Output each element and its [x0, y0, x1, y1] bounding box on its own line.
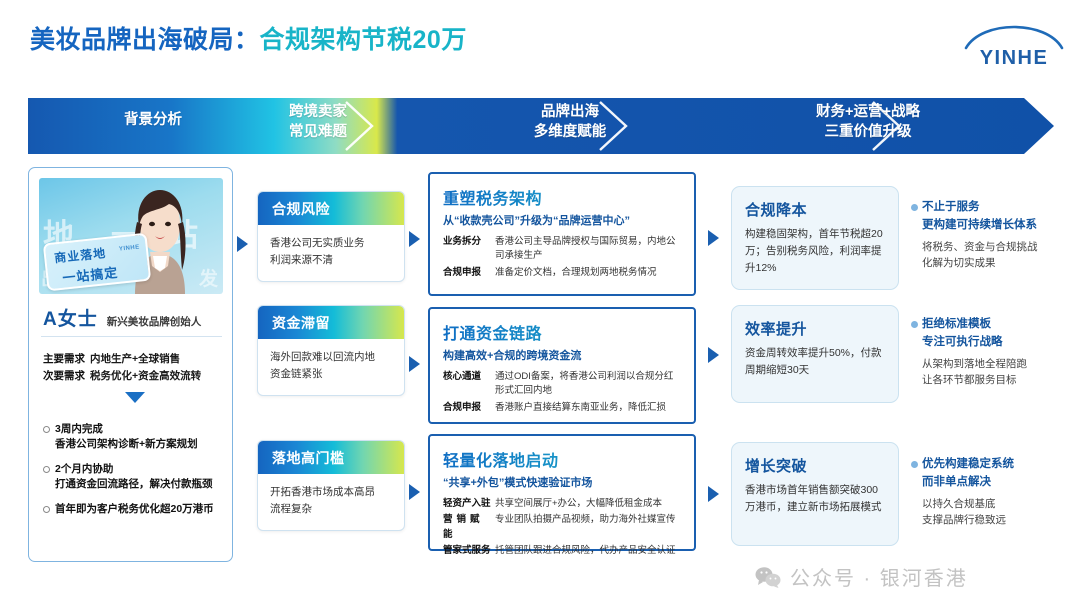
solution-row: 合规申报 香港账户直接结算东南亚业务，降低汇损	[443, 401, 681, 415]
value-card-2[interactable]: 增长突破 香港市场首年销售额突破300万港币，建立新市场拓展模式	[731, 442, 899, 546]
principle-body-0: 将税务、资金与合规挑战 化解为切实成果	[922, 239, 1078, 272]
solution-title-0: 重塑税务架构	[443, 185, 681, 209]
value-title-0: 合规降本	[745, 199, 885, 220]
solution-row: 营销赋能 专业团队拍摄产品视频，助力海外社媒宣传	[443, 513, 681, 542]
principle-head-2: 优先构建稳定系统 而非单点解决	[922, 456, 1078, 492]
value-card-1[interactable]: 效率提升 资金周转效率提升50%，付款周期缩短30天	[731, 305, 899, 403]
photo-sign-line2: 一站搞定	[61, 262, 119, 287]
value-title-1: 效率提升	[745, 318, 885, 339]
principle-dot-icon	[911, 204, 918, 211]
outcome-title-2: 首年即为客户税务优化超20万港币	[55, 503, 214, 515]
need-secondary-value: 税务优化+资金高效流转	[90, 370, 201, 382]
value-desc-2: 香港市场首年销售额突破300万港币，建立新市场拓展模式	[745, 482, 885, 516]
outcome-title-0: 3周内完成	[55, 423, 103, 435]
solution-rows-2: 轻资产入驻 共享空间展厅+办公，大幅降低租金成本 营销赋能 专业团队拍摄产品视频…	[443, 497, 681, 558]
banner-step-2[interactable]: 品牌出海多维度赋能	[480, 103, 660, 142]
pain-point-body-2: 开拓香港市场成本高昂 流程复杂	[258, 474, 404, 530]
value-desc-0: 构建稳固架构，首年节税超20万；告别税务风险，利润率提升12%	[745, 226, 885, 277]
connector-arrow-3	[409, 356, 420, 372]
principle-head-1: 拒绝标准模板 专注可执行战略	[922, 316, 1078, 352]
banner-step-line: 常见难题	[243, 123, 393, 143]
logo-text: YINHE	[980, 47, 1049, 68]
pain-point-title-2: 落地高门槛	[258, 441, 404, 474]
principle-block-0: 不止于服务 更构建可持续增长体系 将税务、资金与合规挑战 化解为切实成果	[922, 199, 1078, 271]
solution-row-value: 托管团队跟进合规风险，代办产品安全认证	[495, 544, 681, 558]
pain-point-body-0: 香港公司无实质业务 利润来源不清	[258, 225, 404, 281]
solution-row: 轻资产入驻 共享空间展厅+办公，大幅降低租金成本	[443, 497, 681, 511]
client-profile-card: 地 一 站 出 海 发 商业落地 一站搞定 YINHE	[28, 167, 233, 562]
pain-point-card-0[interactable]: 合规风险 香港公司无实质业务 利润来源不清	[257, 191, 405, 282]
page-title-accent: 合规架构节税20万	[260, 26, 467, 54]
principle-body-2: 以持久合规基底 支撑品牌行稳致远	[922, 496, 1078, 529]
value-card-0[interactable]: 合规降本 构建稳固架构，首年节税超20万；告别税务风险，利润率提升12%	[731, 186, 899, 290]
solution-subtitle-0: 从“收款壳公司”升级为“品牌运营中心”	[443, 212, 681, 228]
solution-title-1: 打通资金链路	[443, 320, 681, 344]
solution-row: 合规申报 准备定价文档，合理规划两地税务情况	[443, 266, 681, 280]
solution-row-key: 合规申报	[443, 266, 495, 280]
wechat-icon	[755, 566, 781, 588]
solution-row-value: 通过ODI备案，将香港公司利润以合规分红形式汇回内地	[495, 370, 681, 399]
banner-step-line: 多维度赋能	[480, 123, 660, 143]
need-primary-value: 内地生产+全球销售	[90, 353, 180, 365]
solution-row-value: 香港账户直接结算东南亚业务，降低汇损	[495, 401, 681, 415]
solution-row-value: 准备定价文档，合理规划两地税务情况	[495, 266, 681, 280]
banner-step-line: 跨境卖家	[243, 103, 393, 123]
pain-point-card-2[interactable]: 落地高门槛 开拓香港市场成本高昂 流程复杂	[257, 440, 405, 531]
outcome-item-0: 3周内完成 香港公司架构诊断+新方案规划	[43, 422, 225, 452]
solution-row-key: 管家式服务	[443, 544, 495, 558]
pain-point-body-1: 海外回款难以回流内地 资金链紧张	[258, 339, 404, 395]
solution-row-key: 业务拆分	[443, 235, 495, 264]
principle-block-2: 优先构建稳定系统 而非单点解决 以持久合规基底 支撑品牌行稳致远	[922, 456, 1078, 528]
client-identity: A女士 新兴美妆品牌创始人	[43, 304, 223, 331]
banner-step-line: 财务+运营+战略	[768, 103, 968, 123]
down-arrow-icon	[125, 392, 145, 403]
value-desc-1: 资金周转效率提升50%，付款周期缩短30天	[745, 345, 885, 379]
need-secondary-label: 次要需求	[43, 370, 85, 382]
principle-block-1: 拒绝标准模板 专注可执行战略 从架构到落地全程陪跑 让各环节都服务目标	[922, 316, 1078, 388]
solution-row-key: 核心通道	[443, 370, 495, 399]
solution-rows-0: 业务拆分 香港公司主导品牌授权与国际贸易，内地公司承接生产 合规申报 准备定价文…	[443, 235, 681, 280]
solution-subtitle-2: “共享+外包”模式快速验证市场	[443, 474, 681, 490]
watermark: 公众号 · 银河香港	[755, 562, 968, 591]
pain-point-title-1: 资金滞留	[258, 306, 404, 339]
banner-step-1[interactable]: 跨境卖家常见难题	[243, 103, 393, 142]
profile-divider	[41, 336, 222, 337]
connector-arrow-1	[237, 236, 248, 252]
principle-body-1: 从架构到落地全程陪跑 让各环节都服务目标	[922, 356, 1078, 389]
client-need-primary: 主要需求内地生产+全球销售	[43, 351, 180, 366]
connector-arrow-4	[409, 484, 420, 500]
solution-card-2[interactable]: 轻量化落地启动 “共享+外包”模式快速验证市场 轻资产入驻 共享空间展厅+办公，…	[428, 434, 696, 551]
outcome-item-1: 2个月内协助 打通资金回流路径，解决付款瓶颈	[43, 462, 225, 492]
solution-card-1[interactable]: 打通资金链路 构建高效+合规的跨境资金流 核心通道 通过ODI备案，将香港公司利…	[428, 307, 696, 424]
principle-head-0: 不止于服务 更构建可持续增长体系	[922, 199, 1078, 235]
bullet-ring-icon	[43, 466, 50, 473]
client-name: A女士	[43, 304, 98, 331]
connector-arrow-2	[409, 231, 420, 247]
solution-row: 管家式服务 托管团队跟进合规风险，代办产品安全认证	[443, 544, 681, 558]
client-need-secondary: 次要需求税务优化+资金高效流转	[43, 368, 201, 383]
solution-rows-1: 核心通道 通过ODI备案，将香港公司利润以合规分红形式汇回内地 合规申报 香港账…	[443, 370, 681, 415]
bullet-ring-icon	[43, 426, 50, 433]
watermark-text: 公众号 · 银河香港	[790, 562, 968, 591]
yinhe-logo: YINHE	[960, 18, 1068, 68]
principle-dot-icon	[911, 321, 918, 328]
outcome-sub-1: 打通资金回流路径，解决付款瓶颈	[55, 477, 225, 492]
connector-arrow-6	[708, 347, 719, 363]
connector-arrow-5	[708, 230, 719, 246]
solution-title-2: 轻量化落地启动	[443, 447, 681, 471]
outcome-sub-0: 香港公司架构诊断+新方案规划	[55, 437, 225, 452]
need-primary-label: 主要需求	[43, 353, 85, 365]
solution-row-key: 合规申报	[443, 401, 495, 415]
banner-step-line: 三重价值升级	[768, 123, 968, 143]
solution-row-key: 营销赋能	[443, 513, 495, 542]
principle-dot-icon	[911, 461, 918, 468]
outcome-title-1: 2个月内协助	[55, 463, 113, 475]
header: 美妆品牌出海破局：合规架构节税20万 YINHE	[0, 0, 1080, 84]
banner-step-0[interactable]: 背景分析	[88, 111, 218, 131]
value-title-2: 增长突破	[745, 455, 885, 476]
banner-step-line: 背景分析	[88, 111, 218, 131]
solution-card-0[interactable]: 重塑税务架构 从“收款壳公司”升级为“品牌运营中心” 业务拆分 香港公司主导品牌…	[428, 172, 696, 296]
solution-row-value: 共享空间展厅+办公，大幅降低租金成本	[495, 497, 681, 511]
connector-arrow-7	[708, 486, 719, 502]
bullet-ring-icon	[43, 506, 50, 513]
photo-sign-logo: YINHE	[119, 244, 140, 252]
page-title: 美妆品牌出海破局：合规架构节税20万	[30, 20, 467, 56]
slide-root: 美妆品牌出海破局：合规架构节税20万 YINHE	[0, 0, 1080, 608]
banner-step-3[interactable]: 财务+运营+战略三重价值升级	[768, 103, 968, 142]
client-role: 新兴美妆品牌创始人	[107, 314, 202, 329]
solution-row-value: 香港公司主导品牌授权与国际贸易，内地公司承接生产	[495, 235, 681, 264]
banner-step-line: 品牌出海	[480, 103, 660, 123]
client-photo: 地 一 站 出 海 发 商业落地 一站搞定 YINHE	[39, 178, 223, 294]
pain-point-card-1[interactable]: 资金滞留 海外回款难以回流内地 资金链紧张	[257, 305, 405, 396]
solution-row-key: 轻资产入驻	[443, 497, 495, 511]
solution-subtitle-1: 构建高效+合规的跨境资金流	[443, 347, 681, 363]
page-title-main: 美妆品牌出海破局：	[30, 26, 260, 54]
solution-row: 业务拆分 香港公司主导品牌授权与国际贸易，内地公司承接生产	[443, 235, 681, 264]
pain-point-title-0: 合规风险	[258, 192, 404, 225]
solution-row: 核心通道 通过ODI备案，将香港公司利润以合规分红形式汇回内地	[443, 370, 681, 399]
outcome-item-2: 首年即为客户税务优化超20万港币	[43, 502, 225, 517]
solution-row-value: 专业团队拍摄产品视频，助力海外社媒宣传	[495, 513, 681, 542]
